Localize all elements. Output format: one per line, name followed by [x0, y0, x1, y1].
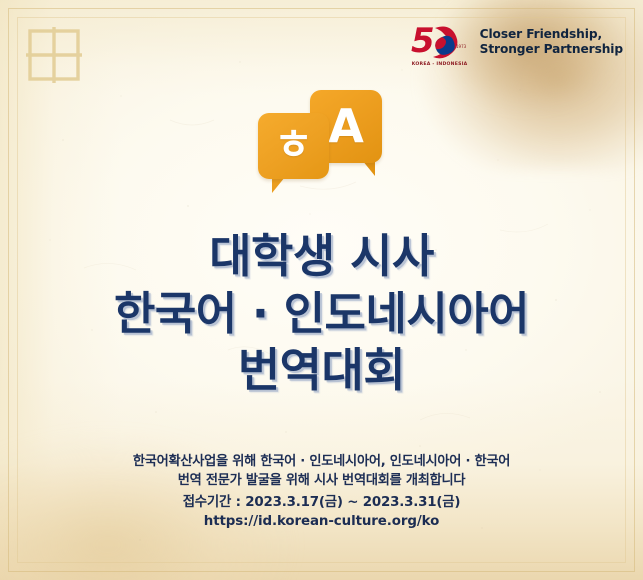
partnership-tagline: Closer Friendship, Stronger Partnership — [480, 27, 623, 56]
speech-bubble-korean-tail-icon — [272, 177, 285, 193]
svg-text:1973: 1973 — [456, 44, 467, 49]
korea-indonesia-50-years-logo-icon: 5 1973 KOREA - INDONESIA — [409, 18, 471, 66]
window-lattice-ornament-icon — [26, 27, 82, 83]
logo-caption: KOREA - INDONESIA — [409, 62, 471, 67]
website-url[interactable]: https://id.korean-culture.org/ko — [0, 512, 643, 531]
korean-glyph: ㅎ — [274, 124, 313, 166]
poster-canvas: 5 1973 KOREA - INDONESIA Closer Friendsh… — [0, 0, 643, 580]
tagline-line-1: Closer Friendship, — [480, 27, 623, 42]
description-line-2: 번역 전문가 발굴을 위해 시사 번역대회를 개최합니다 — [0, 471, 643, 490]
registration-period: 접수기간 : 2023.3.17(금) ~ 2023.3.31(금) — [0, 493, 643, 512]
speech-bubble-korean-icon: ㅎ — [258, 113, 329, 179]
header-logo-group: 5 1973 KOREA - INDONESIA Closer Friendsh… — [409, 18, 623, 66]
tagline-line-2: Stronger Partnership — [480, 42, 623, 57]
page-title: 대학생 시사 한국어 · 인도네시아어 번역대회 — [0, 228, 643, 399]
speech-bubble-emblem: A ㅎ — [258, 90, 388, 195]
svg-text:5: 5 — [411, 21, 435, 61]
latin-glyph: A — [328, 103, 364, 149]
description-line-1: 한국어확산사업을 위해 한국어 · 인도네시아어, 인도네시아어 · 한국어 — [0, 452, 643, 471]
title-line-1: 대학생 시사 — [0, 228, 643, 285]
description-block: 한국어확산사업을 위해 한국어 · 인도네시아어, 인도네시아어 · 한국어 번… — [0, 452, 643, 531]
title-line-3: 번역대회 — [0, 342, 643, 399]
title-line-2: 한국어 · 인도네시아어 — [0, 285, 643, 342]
